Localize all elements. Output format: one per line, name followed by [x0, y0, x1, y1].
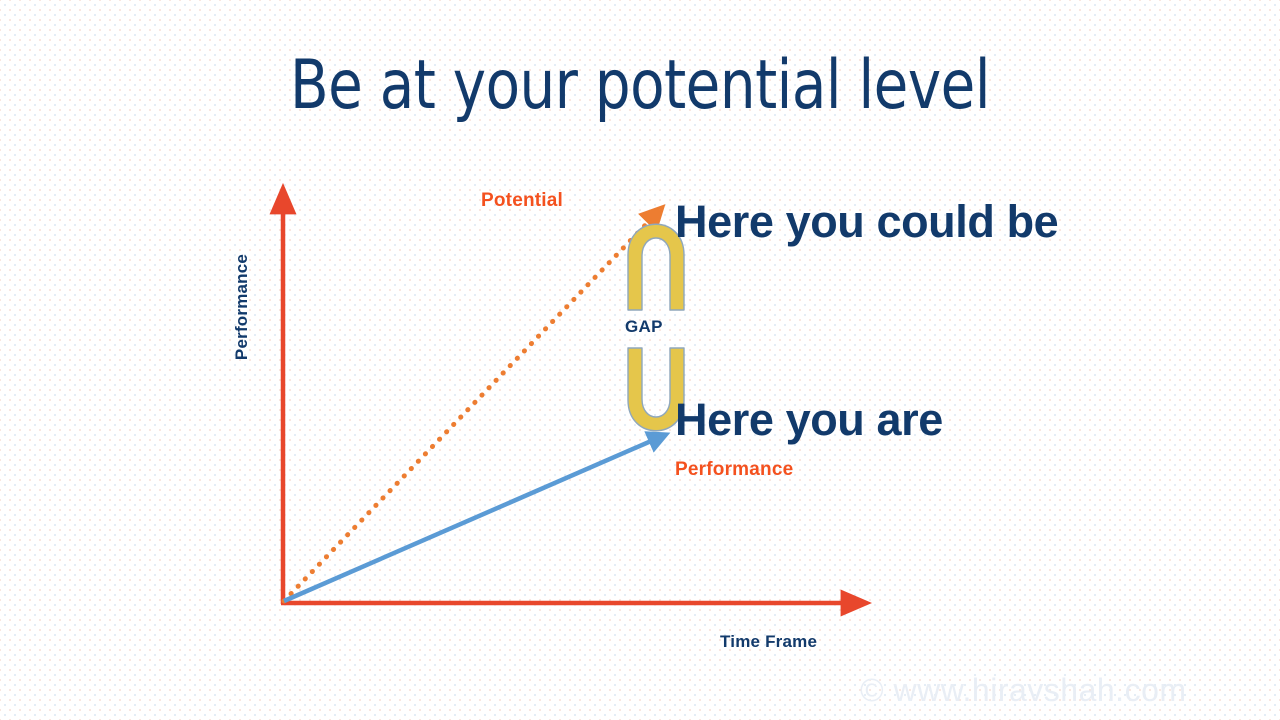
chart-graphic: [0, 0, 1280, 720]
slide-canvas: Be at your potential level Potential Per…: [0, 0, 1280, 720]
here-you-could-be-label: Here you could be: [675, 194, 1058, 250]
gap-label: GAP: [625, 317, 663, 337]
watermark: © www.hiravshah.com: [860, 672, 1187, 709]
y-axis-label: Performance: [232, 254, 252, 360]
performance-line: [284, 438, 658, 601]
performance-series-label: Performance: [675, 459, 793, 481]
potential-line: [284, 215, 655, 601]
here-you-are-label: Here you are: [675, 392, 943, 448]
x-axis-label: Time Frame: [720, 632, 817, 652]
potential-series-label: Potential: [481, 190, 563, 212]
